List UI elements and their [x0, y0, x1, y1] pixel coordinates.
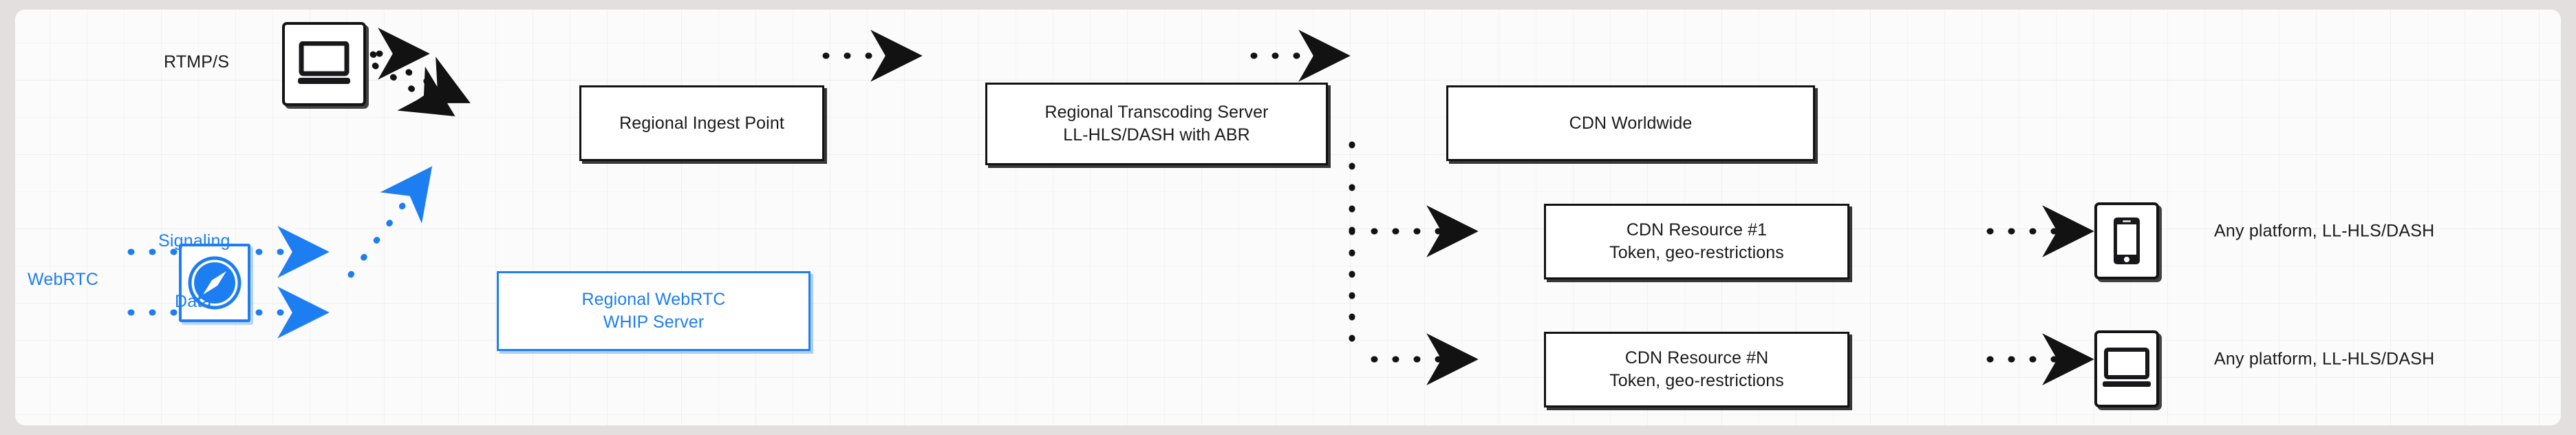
- node-whip-line1: Regional WebRTC: [581, 288, 725, 311]
- node-res1-line1: CDN Resource #1: [1627, 219, 1767, 242]
- edge-label-data: Data: [175, 292, 212, 312]
- node-transcode-line2: LL-HLS/DASH with ABR: [1063, 124, 1250, 147]
- desktop-monitor-icon: [282, 22, 366, 106]
- laptop-computer-icon: [2094, 330, 2159, 407]
- edge-whip-to-ingest: [351, 192, 413, 275]
- node-resN-line1: CDN Resource #N: [1625, 347, 1769, 370]
- node-cdn-line1: CDN Worldwide: [1569, 112, 1693, 135]
- endpoint-desktop-label: Any platform, LL-HLS/DASH: [2214, 350, 2434, 370]
- diagram-screenshot: RTMP/S WebRTC Signaling Data Regional In…: [0, 0, 2576, 435]
- edge-label-signaling: Signaling: [158, 231, 230, 251]
- desktop-monitor-glyph: [297, 41, 351, 87]
- node-ingest-line1: Regional Ingest Point: [619, 112, 784, 135]
- mobile-phone-icon: [2094, 202, 2159, 279]
- node-regional-webrtc-whip-server[interactable]: Regional WebRTC WHIP Server: [497, 271, 811, 351]
- mobile-phone-glyph: [2112, 216, 2141, 266]
- laptop-computer-glyph: [2102, 348, 2151, 390]
- node-cdn-worldwide[interactable]: CDN Worldwide: [1446, 85, 1815, 161]
- node-cdn-resource-n[interactable]: CDN Resource #N Token, geo-restrictions: [1544, 332, 1849, 407]
- node-regional-ingest-point[interactable]: Regional Ingest Point: [579, 85, 824, 161]
- diagram-canvas: RTMP/S WebRTC Signaling Data Regional In…: [15, 10, 2561, 425]
- webrtc-source-label: WebRTC: [28, 270, 98, 290]
- node-cdn-resource-1[interactable]: CDN Resource #1 Token, geo-restrictions: [1544, 204, 1849, 279]
- edge-rtmp-to-ingest: [373, 54, 442, 89]
- node-regional-transcoding-server[interactable]: Regional Transcoding Server LL-HLS/DASH …: [985, 83, 1328, 165]
- node-transcode-line1: Regional Transcoding Server: [1044, 101, 1268, 124]
- node-whip-line2: WHIP Server: [603, 311, 705, 334]
- rtmp-source-label: RTMP/S: [164, 52, 229, 72]
- endpoint-mobile-label: Any platform, LL-HLS/DASH: [2214, 222, 2434, 242]
- connector-layer: [15, 10, 2561, 425]
- node-resN-line2: Token, geo-restrictions: [1609, 370, 1784, 392]
- node-res1-line2: Token, geo-restrictions: [1609, 242, 1784, 264]
